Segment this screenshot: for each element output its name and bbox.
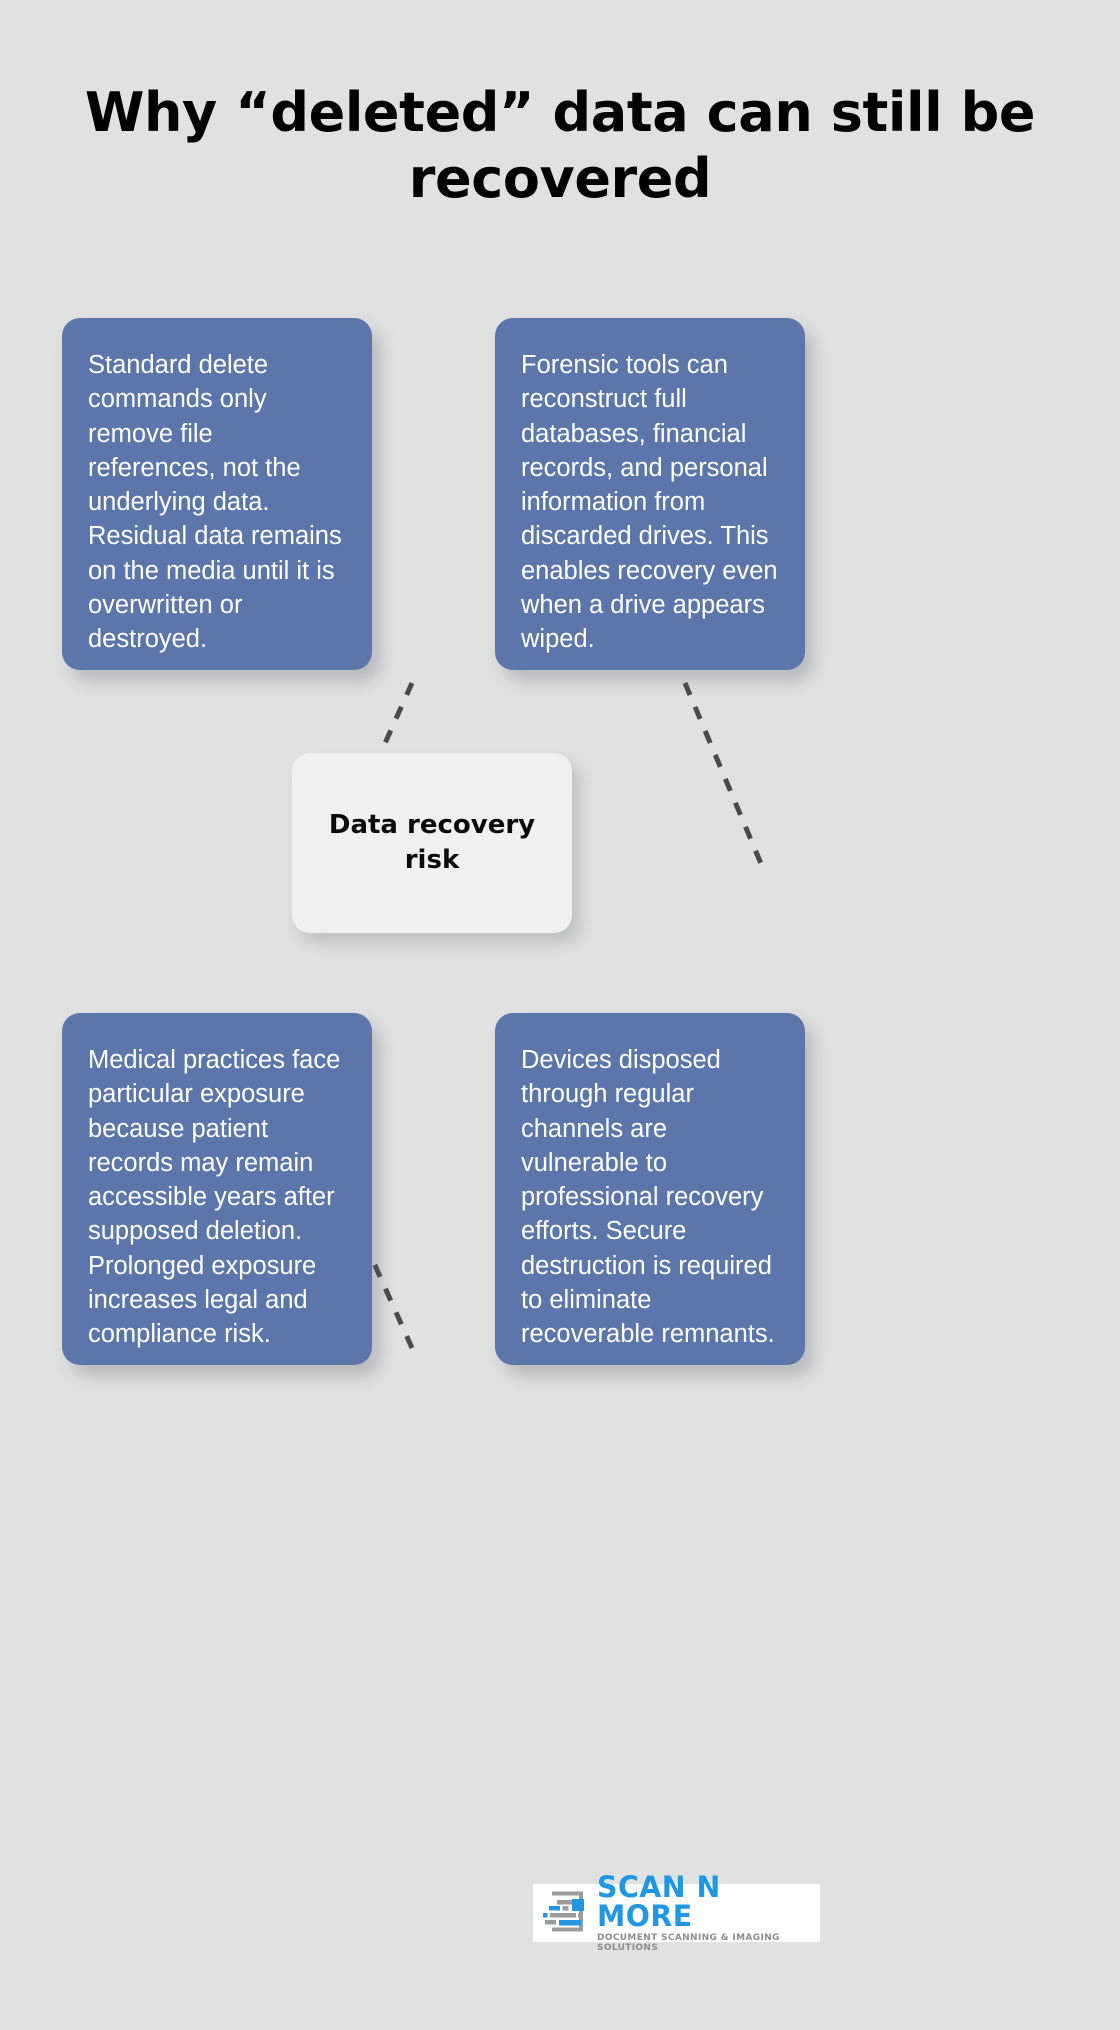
card-bottom-right: Devices disposed through regular channel… xyxy=(495,1013,805,1365)
connector-top-right xyxy=(685,683,762,866)
document-scan-icon xyxy=(539,1889,591,1937)
card-bottom-left: Medical practices face particular exposu… xyxy=(62,1013,372,1365)
center-card-label: Data recovery risk xyxy=(295,808,569,878)
center-card: Data recovery risk xyxy=(292,753,572,933)
logo-wordmark: SCAN N MORE xyxy=(597,1873,810,1931)
card-top-left: Standard delete commands only remove fil… xyxy=(62,318,372,670)
card-top-right: Forensic tools can reconstruct full data… xyxy=(495,318,805,670)
logo-text-group: SCAN N MORE DOCUMENT SCANNING & IMAGING … xyxy=(597,1873,814,1952)
brand-logo: SCAN N MORE DOCUMENT SCANNING & IMAGING … xyxy=(533,1884,820,1942)
logo-tagline: DOCUMENT SCANNING & IMAGING SOLUTIONS xyxy=(597,1934,812,1952)
infographic-canvas: Why “deleted” data can still be recovere… xyxy=(0,0,1120,2030)
page-title: Why “deleted” data can still be recovere… xyxy=(50,80,1070,212)
